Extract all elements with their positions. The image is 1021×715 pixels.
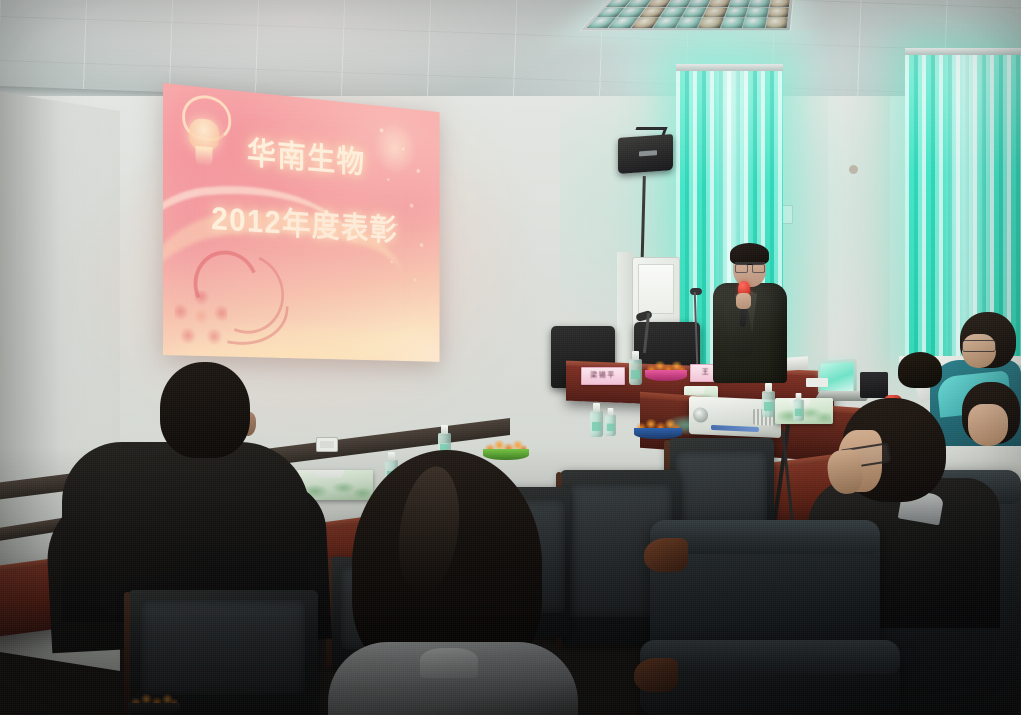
fruit-bowl-1 xyxy=(483,438,529,460)
microphone-icon-2 xyxy=(690,288,702,295)
slide-surface: 华南生物 2012年度表彰 xyxy=(163,83,440,362)
wall-panel xyxy=(617,252,633,364)
speaker-badge xyxy=(639,150,657,156)
laptop-lid xyxy=(818,359,857,396)
wall-outlet-icon xyxy=(316,437,338,452)
glasses-icon xyxy=(735,262,765,271)
water-bottle-8 xyxy=(793,393,804,421)
desk-item-black-box xyxy=(860,372,888,398)
audience-person-4-head xyxy=(898,352,942,388)
blind-headrail-right xyxy=(905,48,1021,55)
blind-headrail-left xyxy=(676,64,783,71)
floral-icon xyxy=(167,247,290,354)
presenter-hand xyxy=(736,293,751,309)
water-bottle-3 xyxy=(590,403,603,437)
fruit-bowl-4 xyxy=(128,690,180,714)
ceiling-light-tint xyxy=(0,0,1021,105)
water-bottle-5 xyxy=(629,351,642,385)
water-bottle-7 xyxy=(762,383,775,417)
projector-lens-icon xyxy=(693,407,708,423)
projector-trim xyxy=(711,425,759,432)
projection-screen: 华南生物 2012年度表彰 xyxy=(163,83,440,362)
name-card-1: 梁锡平 xyxy=(581,367,625,385)
window-right-glare xyxy=(905,48,1021,360)
right-wall-pier xyxy=(828,96,890,396)
wall-speaker-icon xyxy=(618,134,673,174)
glasses-icon-woman xyxy=(962,340,996,352)
wall-mark xyxy=(849,165,858,174)
audience-woman-longhair-collar xyxy=(420,648,478,678)
audience-man-suit-head xyxy=(160,362,250,458)
ceiling-light-icon xyxy=(579,0,794,31)
ac-panel xyxy=(638,264,674,314)
fruit-bowl-2 xyxy=(634,417,682,439)
name-card-1-text: 梁锡平 xyxy=(582,368,624,384)
audience-person-3-face xyxy=(968,404,1008,446)
presenter xyxy=(705,243,793,383)
desk-item-white xyxy=(806,378,828,387)
tissue-box-2 xyxy=(775,398,833,424)
audience-sofa-front[interactable] xyxy=(640,640,900,715)
window-right xyxy=(905,48,1021,360)
conference-room-photo: 华南生物 2012年度表彰 梁锡平 王 毅 xyxy=(0,0,1021,715)
fruit-bowl-3 xyxy=(645,361,687,381)
light-louver-cells xyxy=(587,0,790,28)
laptop-screen xyxy=(821,362,854,392)
water-bottle-4 xyxy=(605,408,616,436)
